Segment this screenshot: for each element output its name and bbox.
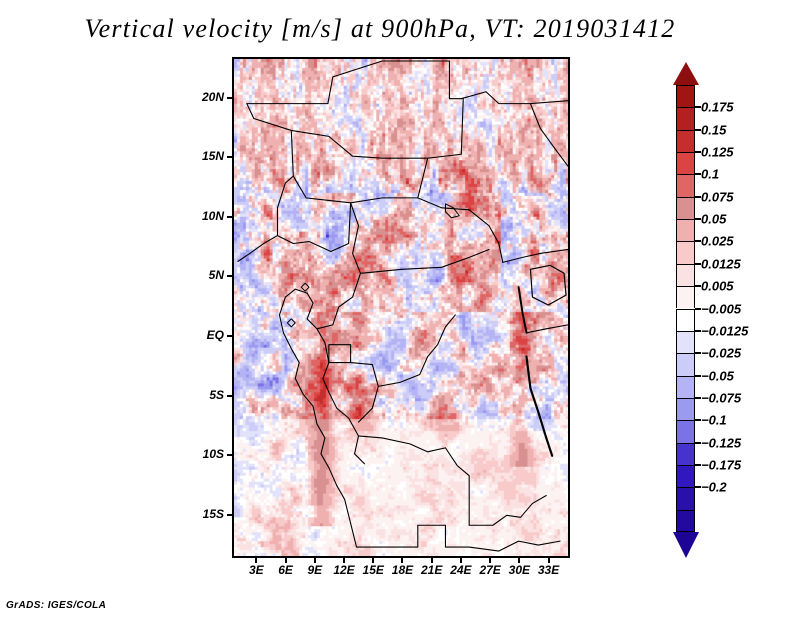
colorbar-label: 0.0125: [701, 256, 741, 271]
grads-credit: GrADS: IGES/COLA: [6, 600, 106, 611]
colorbar-segment: [676, 197, 695, 219]
colorbar-segment: [676, 241, 695, 263]
colorbar-segment: [676, 420, 695, 442]
y-axis-tick: [227, 97, 232, 99]
colorbar-label: 0.1: [701, 167, 719, 182]
colorbar-segment: [676, 443, 695, 465]
colorbar-label: −0.0125: [701, 323, 748, 338]
map-plot-area: [232, 57, 570, 558]
colorbar-label: −0.175: [701, 457, 741, 472]
colorbar-segment: [676, 264, 695, 286]
colorbar-label: 0.075: [701, 189, 734, 204]
colorbar-label: −0.1: [701, 413, 727, 428]
colorbar-label: 0.175: [701, 100, 734, 115]
colorbar-label: 0.15: [701, 122, 726, 137]
colorbar-label: 0.025: [701, 234, 734, 249]
colorbar-segment: [676, 465, 695, 487]
y-axis-label: 10N: [186, 209, 224, 223]
y-axis-label: 5S: [186, 388, 224, 402]
y-axis-label: EQ: [186, 328, 224, 342]
colorbar-top-arrow: [673, 62, 699, 85]
colorbar-segment: [676, 152, 695, 174]
y-axis-label: 15N: [186, 149, 224, 163]
y-axis-tick: [227, 454, 232, 456]
y-axis-tick: [227, 156, 232, 158]
colorbar-label: −0.005: [701, 301, 741, 316]
y-axis-tick: [227, 514, 232, 516]
colorbar-segment: [676, 376, 695, 398]
colorbar-segment: [676, 510, 695, 532]
colorbar-bottom-arrow: [673, 532, 699, 558]
y-axis-tick: [227, 275, 232, 277]
y-axis-tick: [227, 335, 232, 337]
colorbar-segment: [676, 286, 695, 308]
y-axis-label: 15S: [186, 507, 224, 521]
colorbar-label: 0.05: [701, 212, 726, 227]
colorbar-segment: [676, 487, 695, 509]
colorbar-label: −0.025: [701, 346, 741, 361]
colorbar-segment: [676, 107, 695, 129]
colorbar-segment: [676, 174, 695, 196]
colorbar-label: −0.125: [701, 435, 741, 450]
y-axis-tick: [227, 395, 232, 397]
colorbar-segment: [676, 353, 695, 375]
colorbar-label: 0.125: [701, 145, 734, 160]
colorbar-segment: [676, 85, 695, 107]
x-axis-label: 33E: [529, 563, 569, 577]
colorbar-segment: [676, 130, 695, 152]
colorbar-label: −0.075: [701, 390, 741, 405]
y-axis-label: 10S: [186, 447, 224, 461]
colorbar: [676, 85, 695, 532]
colorbar-segment: [676, 398, 695, 420]
colorbar-label: −0.2: [701, 480, 727, 495]
y-axis-label: 20N: [186, 90, 224, 104]
colorbar-segment: [676, 309, 695, 331]
colorbar-label: −0.05: [701, 368, 734, 383]
y-axis-tick: [227, 216, 232, 218]
page-title: Vertical velocity [m/s] at 900hPa, VT: 2…: [0, 14, 760, 44]
colorbar-segment: [676, 219, 695, 241]
colorbar-segment: [676, 331, 695, 353]
y-axis-label: 5N: [186, 268, 224, 282]
country-borders-overlay: [234, 59, 568, 556]
colorbar-label: 0.005: [701, 279, 734, 294]
